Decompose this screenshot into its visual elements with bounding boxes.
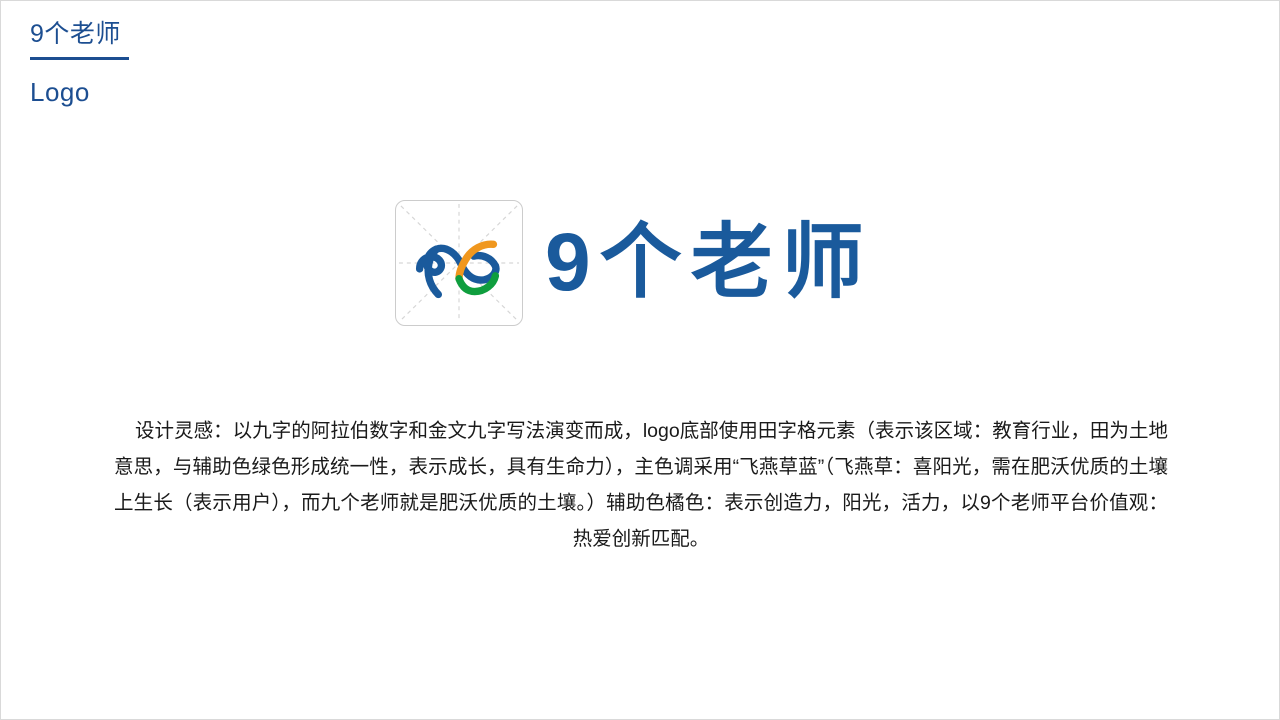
page-title: 9个老师 <box>30 19 330 49</box>
slide-header: 9个老师 Logo <box>30 19 330 108</box>
logo-wordmark: 9个老师 <box>545 219 873 307</box>
logo-grid-frame <box>395 200 523 326</box>
logo-lockup: 9个老师 <box>395 200 873 326</box>
logo-blue-hook <box>474 256 496 266</box>
section-subtitle: Logo <box>30 76 330 108</box>
title-underline-rule <box>30 57 129 60</box>
logo-mark-icon <box>396 201 522 325</box>
design-rationale-text: 设计灵感：以九字的阿拉伯数字和金文九字写法演变而成，logo底部使用田字格元素（… <box>114 413 1168 557</box>
slide: 9个老师 Logo <box>0 0 1280 720</box>
